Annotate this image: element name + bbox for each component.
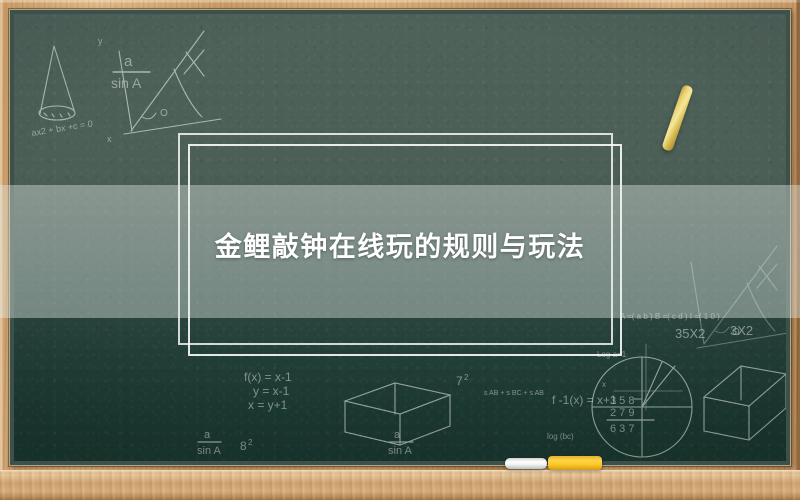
ledge-top-highlight bbox=[0, 470, 800, 473]
chalk-stick-yellow bbox=[548, 456, 602, 470]
chalk-stick-white bbox=[505, 458, 547, 469]
chalk-ledge bbox=[0, 470, 800, 500]
ledge-wood-grain bbox=[0, 470, 800, 500]
chalkboard-banner: a sin A y x O ax2 + bx +c = 0 O 35X2 3X2… bbox=[0, 0, 800, 500]
page-title: 金鲤敲钟在线玩的规则与玩法 bbox=[0, 225, 800, 264]
